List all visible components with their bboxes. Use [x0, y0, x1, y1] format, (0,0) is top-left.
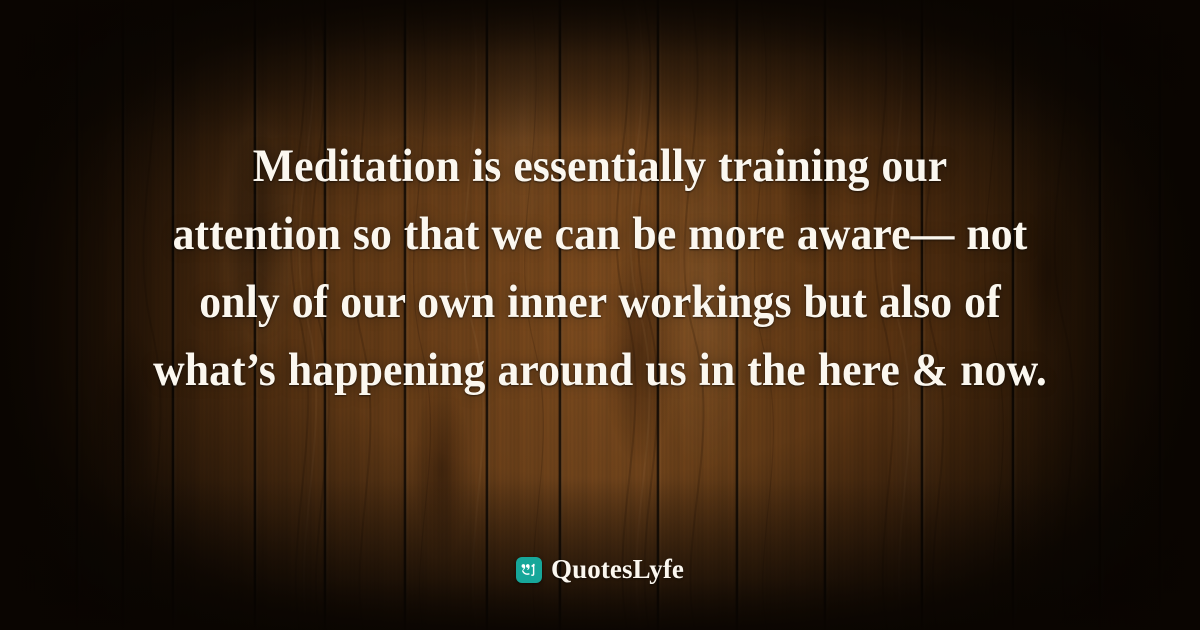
card-content: Meditation is essentially training our a… [0, 0, 1200, 630]
brand-logo[interactable]: QuotesLyfe [0, 556, 1200, 583]
quote-line: attention so that we can be more aware— … [107, 200, 1093, 268]
quote-card: Meditation is essentially training our a… [0, 0, 1200, 630]
quote-line: Meditation is essentially training our [107, 132, 1093, 200]
quote-block: Meditation is essentially training our a… [70, 0, 1130, 404]
brand-name: QuotesLyfe [551, 556, 684, 583]
quotes-smiley-icon [516, 557, 542, 583]
quote-line: what’s happening around us in the here &… [107, 336, 1093, 404]
quote-line: only of our own inner workings but also … [107, 268, 1093, 336]
